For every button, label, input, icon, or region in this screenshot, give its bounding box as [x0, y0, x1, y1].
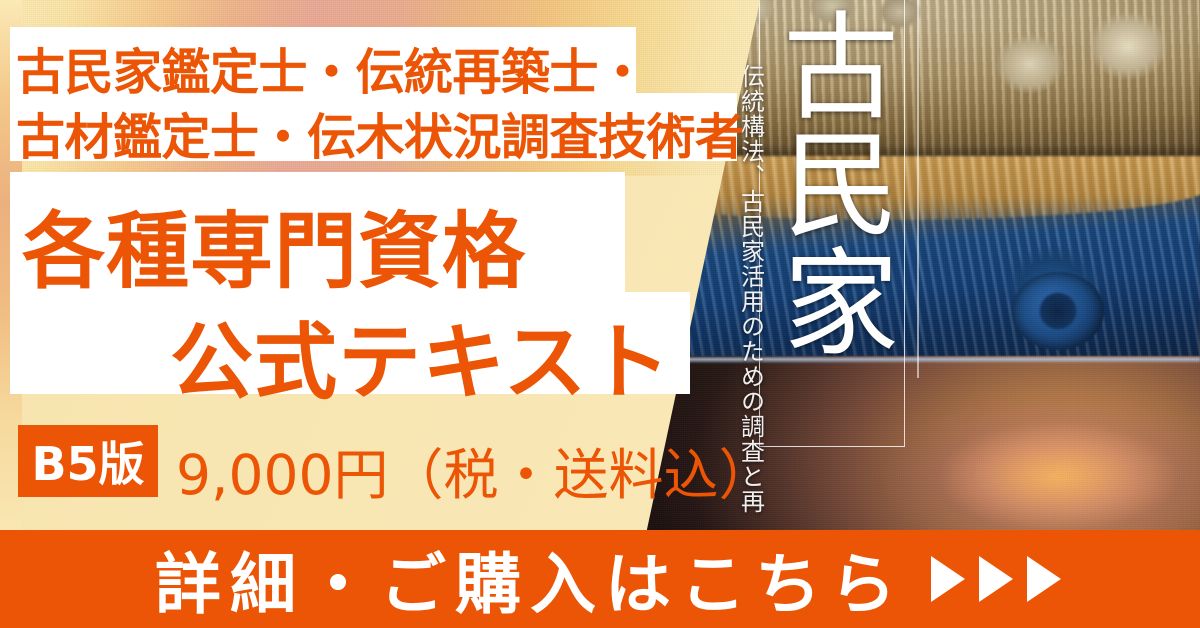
cta-label: 詳細・ご購入はこちら — [139, 531, 905, 627]
promo-banner: 古民家 伝統構法、古民家活用のための調査と再生の 古民家鑑定士・伝統再築士・ 古… — [0, 0, 1200, 628]
title-line-1: 各種専門資格 — [22, 184, 526, 304]
headline-line-1: 古民家鑑定士・伝統再築士・ — [16, 33, 776, 104]
triangle-right-icon — [931, 556, 965, 602]
cover-vertical-rule — [917, 0, 919, 378]
cta-arrow-group — [931, 556, 1061, 602]
cta-bar[interactable]: 詳細・ご購入はこちら — [0, 530, 1200, 628]
triangle-right-icon — [1027, 556, 1061, 602]
cover-title: 古民家 — [764, 6, 900, 360]
price-text: 9,000円（税・送料込） — [176, 430, 773, 510]
headline-line-2: 古材鑑定士・伝木状況調査技術者 — [16, 98, 776, 169]
title-line-2: 公式テキスト — [170, 295, 672, 415]
format-badge: B5版 — [18, 425, 158, 497]
triangle-right-icon — [979, 556, 1013, 602]
